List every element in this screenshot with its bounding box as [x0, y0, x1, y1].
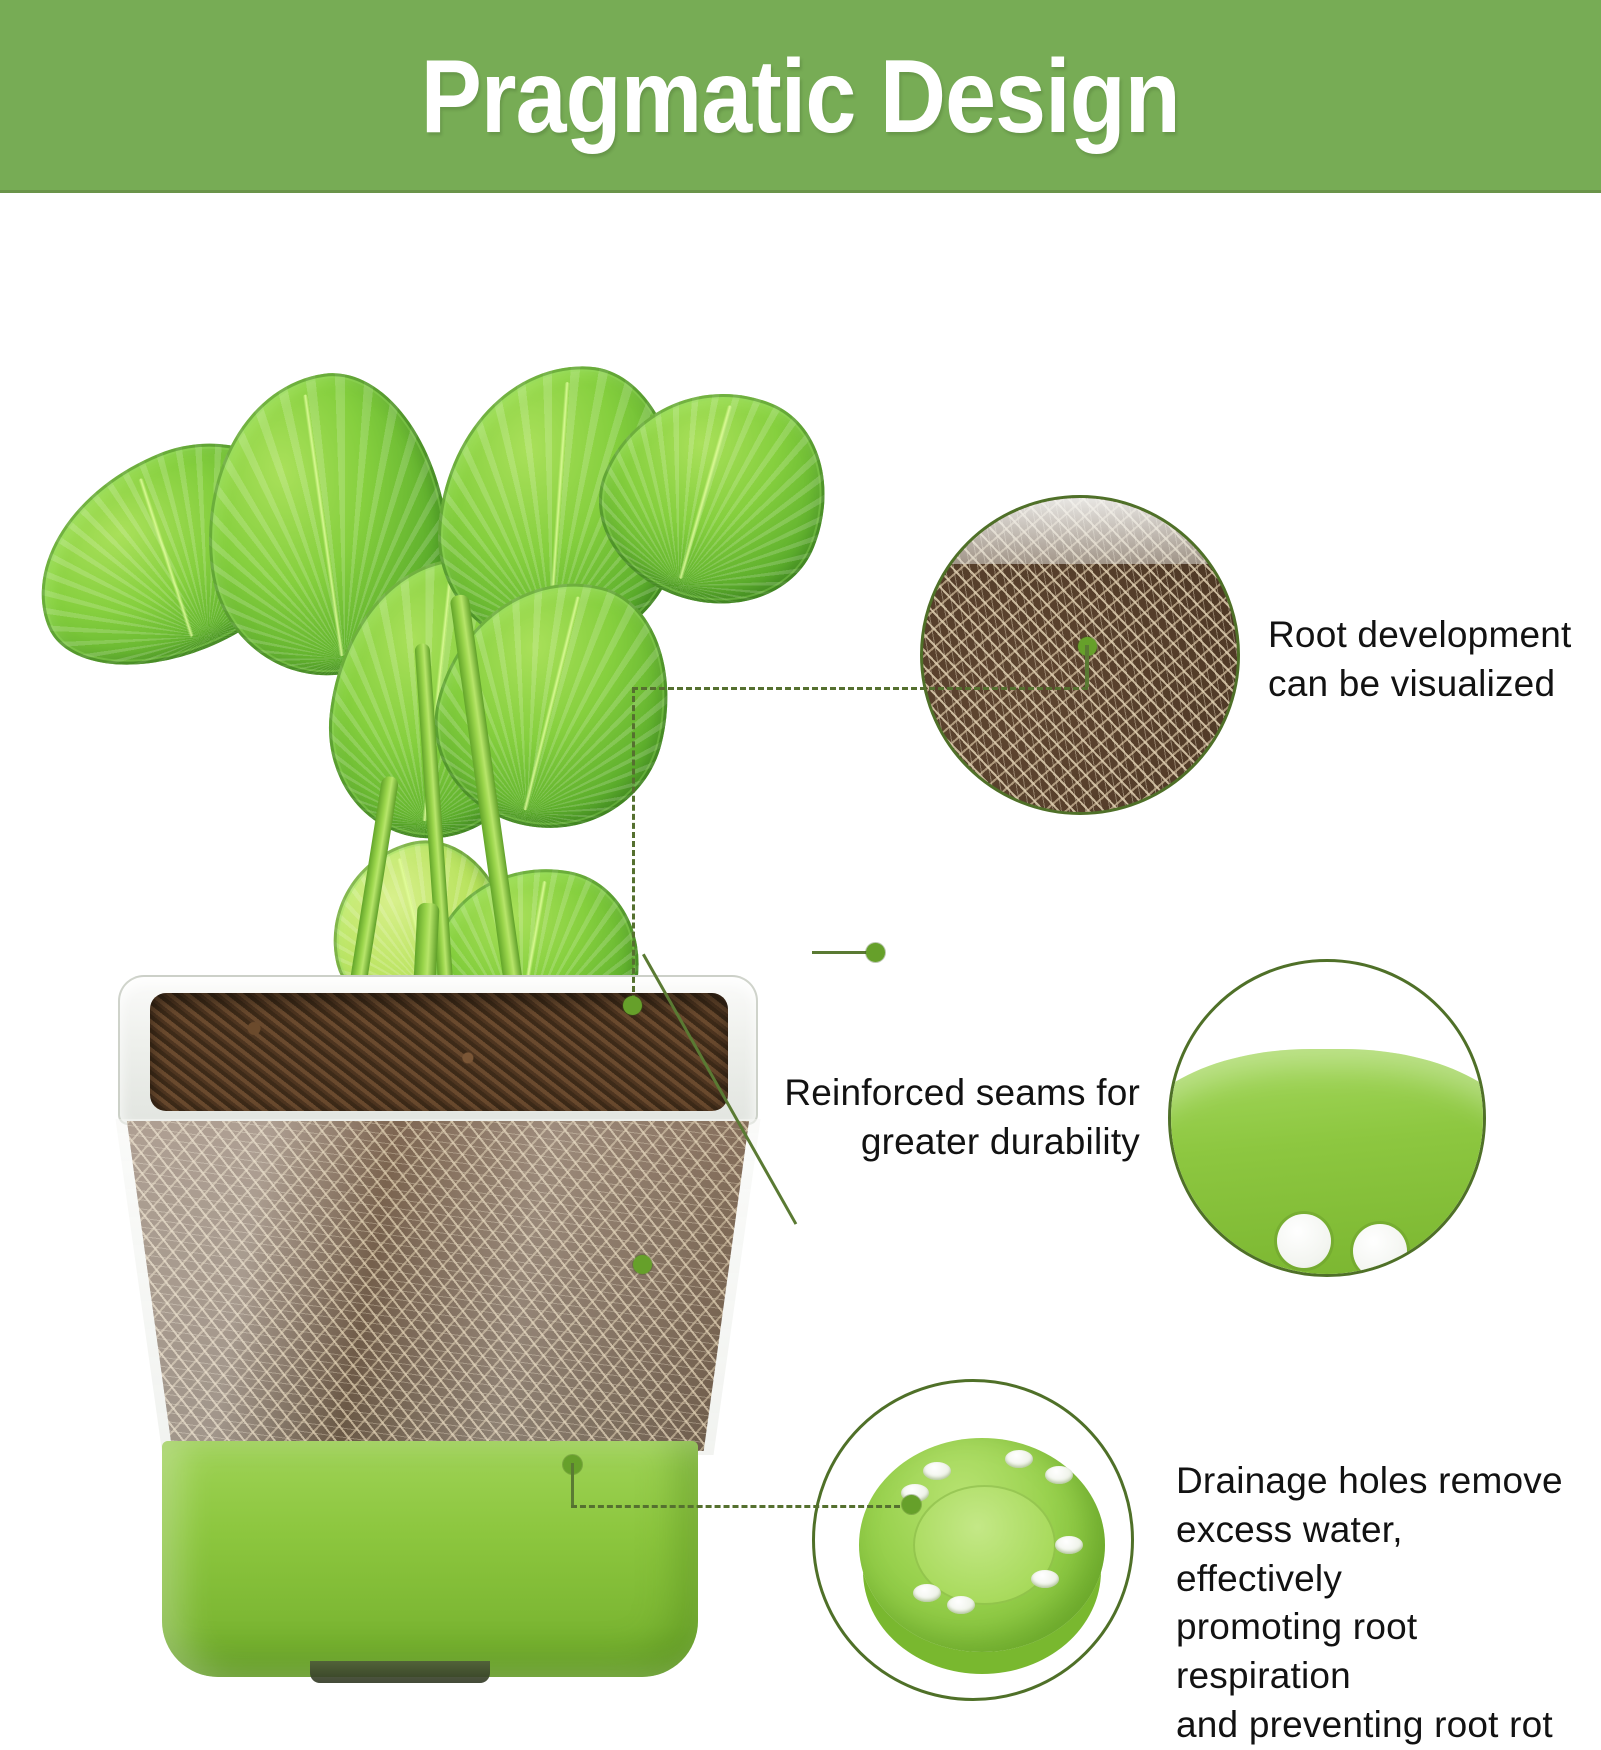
drainage-hole-icon	[1031, 1570, 1059, 1588]
connector-dash-root-vertical	[632, 687, 635, 1001]
pot-foot	[310, 1661, 490, 1683]
detail-circle-root-visibility	[920, 495, 1240, 815]
drainage-hole-icon	[1045, 1466, 1073, 1484]
connector-dot-root-pot	[623, 996, 642, 1015]
connector-horizontal-seam	[812, 951, 874, 954]
product-photo	[10, 343, 770, 1673]
pot-glass-sheen	[114, 1121, 762, 1451]
drainage-hole-icon	[923, 1462, 951, 1480]
soil-surface	[150, 993, 728, 1111]
connector-dot-seam-pot	[633, 1255, 652, 1274]
detail-circle-drainage-holes	[812, 1379, 1134, 1701]
header-banner: Pragmatic Design	[0, 0, 1601, 193]
drainage-hole-icon	[1005, 1450, 1033, 1468]
pot-base-disc	[859, 1438, 1105, 1652]
page-title: Pragmatic Design	[421, 45, 1180, 149]
connector-stem-root	[1085, 645, 1089, 687]
connector-stem-drainage	[571, 1463, 574, 1505]
infographic-canvas: Root development can be visualized Reinf…	[0, 193, 1601, 1601]
drainage-hole-icon	[1353, 1224, 1407, 1277]
connector-dash-root-horizontal	[632, 687, 1088, 690]
connector-dot-drainage-circle	[902, 1495, 921, 1514]
drainage-hole-icon	[1277, 1214, 1331, 1268]
callout-text-reinforced-seams: Reinforced seams for greater durability	[770, 1069, 1140, 1167]
connector-dot-seam-text	[866, 943, 885, 962]
detail-circle-reinforced-seams	[1168, 959, 1486, 1277]
drainage-hole-icon	[913, 1584, 941, 1602]
drainage-hole-icon	[947, 1596, 975, 1614]
connector-dash-drainage-horizontal	[571, 1505, 909, 1508]
callout-text-drainage-holes: Drainage holes remove excess water, effe…	[1176, 1457, 1576, 1750]
drainage-hole-icon	[1055, 1536, 1083, 1554]
pot-green-base	[162, 1441, 698, 1677]
callout-text-root-visibility: Root development can be visualized	[1268, 611, 1588, 709]
